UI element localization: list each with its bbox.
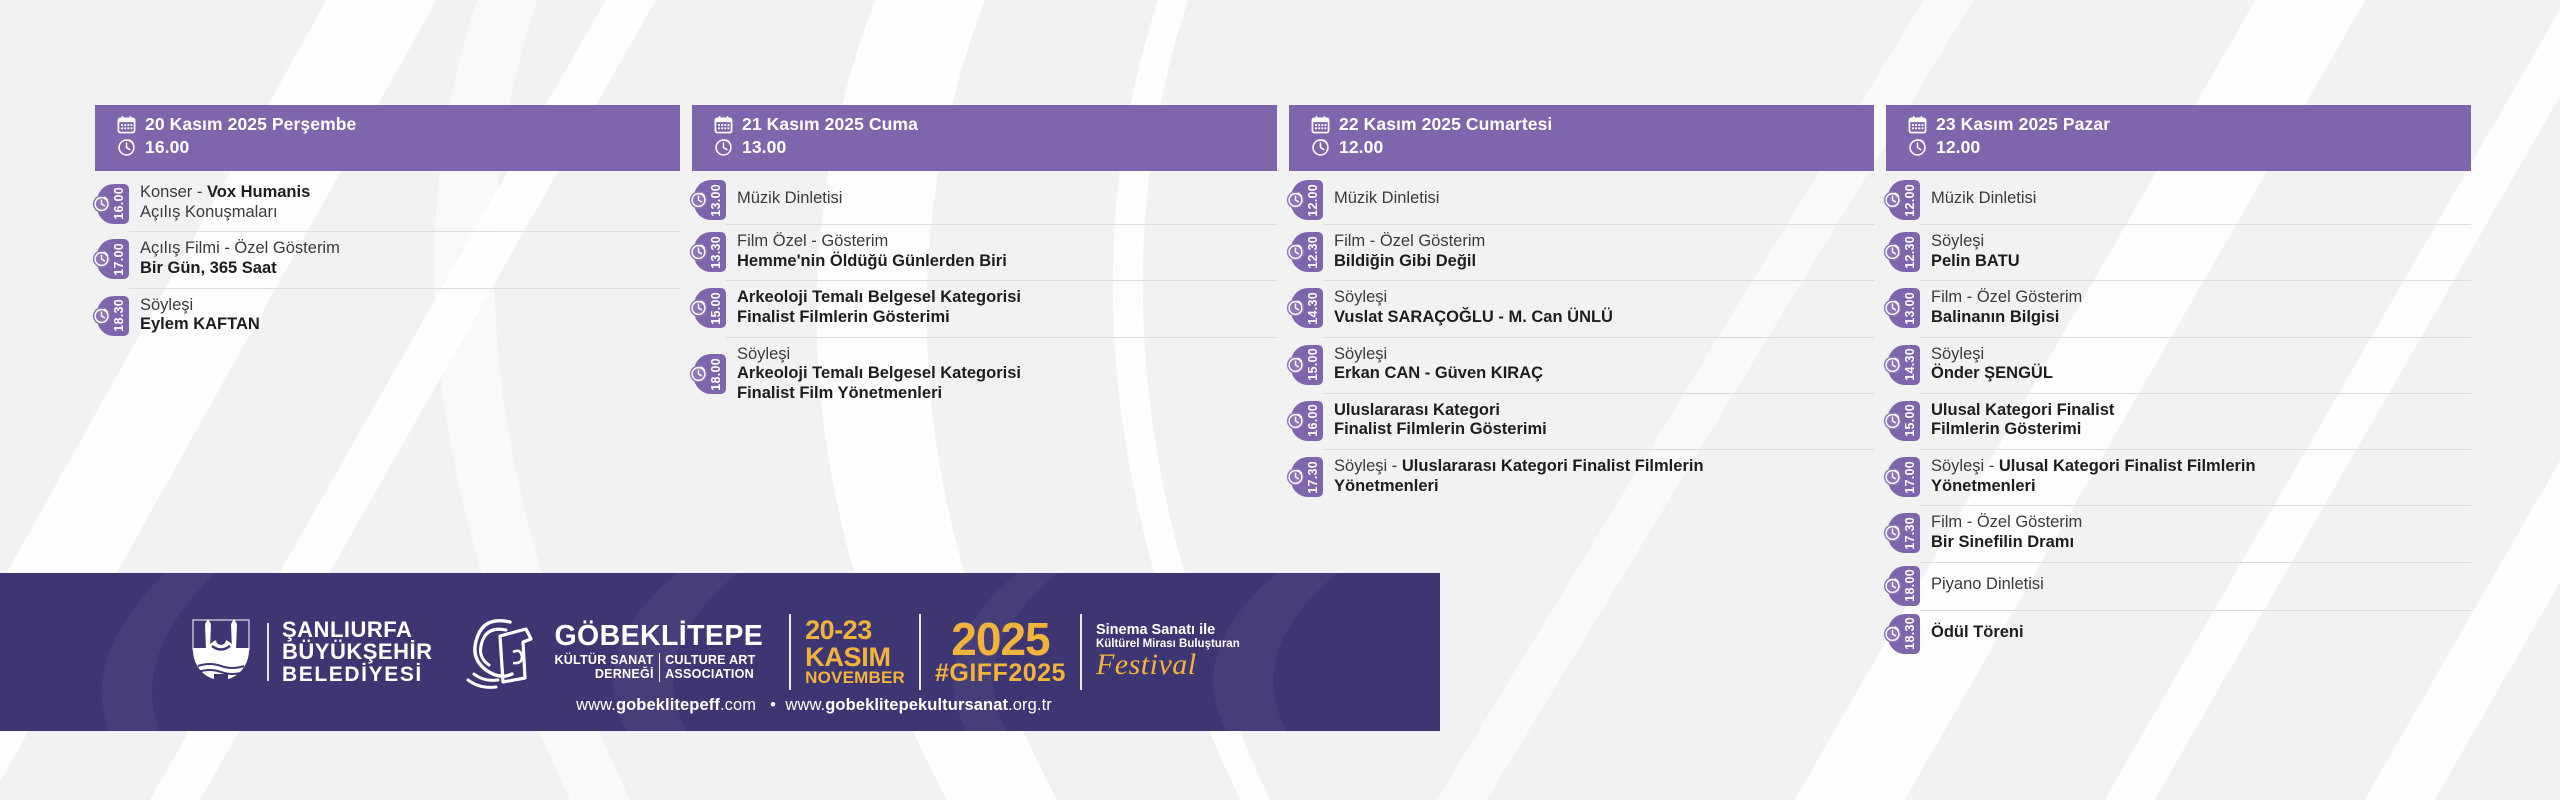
day-date: 22 Kasım 2025 Cumartesi [1339,115,1552,135]
event-row[interactable]: 14.30 SöyleşiVuslat SARAÇOĞLU - M. Can Ü… [1289,280,1874,336]
event-line: Açılış Konuşmaları [140,203,674,223]
event-body: Film - Özel GösterimBir Sinefilin Dramı [1920,505,2471,561]
day-header: 20 Kasım 2025 Perşembe 16.00 [95,105,680,171]
logo-divider [267,623,269,681]
event-line: Finalist Film Yönetmenleri [737,384,1271,404]
event-time: 18.00 [710,355,723,394]
event-line: Pelin BATU [1931,252,2465,272]
event-time-badge: 12.00 [1886,176,1920,224]
event-time: 15.00 [710,289,723,328]
event-line-title: Yönetmenleri [1334,477,1439,495]
event-line: Eylem KAFTAN [140,315,674,335]
event-line: Balinanın Bilgisi [1931,308,2465,328]
event-line: Finalist Filmlerin Gösterimi [737,308,1271,328]
url-2-tld: .org.tr [1008,696,1052,714]
banner-divider-3 [1080,614,1082,690]
event-body: Film Özel - GösterimHemme'nin Öldüğü Gün… [726,224,1277,280]
clock-icon [1286,468,1305,487]
event-line-title: Uluslararası Kategori Finalist Filmlerin [1402,457,1704,475]
gobeklitepe-association-logo: GÖBEKLİTEPE KÜLTÜR SANAT DERNEĞİ CULTURE… [466,614,763,690]
event-row[interactable]: 18.00 SöyleşiArkeoloji Temalı Belgesel K… [692,337,1277,413]
event-line: Film - Özel Gösterim [1334,232,1868,252]
event-time-badge: 15.00 [1886,393,1920,449]
event-line-lead: Söyleşi [1931,232,1984,250]
event-line-title: Uluslararası Kategori [1334,401,1500,419]
event-line: Ödül Töreni [1931,623,2465,643]
event-line-lead: Film - Özel Gösterim [1334,232,1485,250]
event-time: 18.00 [1904,566,1917,605]
event-line-lead: Film - Özel Gösterim [1931,513,2082,531]
clock-icon [1883,524,1902,543]
event-line-title: Ulusal Kategori Finalist Filmlerin [1999,457,2256,475]
event-row[interactable]: 12.00 Müzik Dinletisi [1289,176,1874,224]
event-line-title: Eylem KAFTAN [140,315,260,333]
event-time-badge: 17.30 [1289,449,1323,505]
event-line: Ulusal Kategori Finalist [1931,401,2465,421]
sanliurfa-crest-icon [188,618,254,686]
event-body: Piyano Dinletisi [1920,562,2471,610]
event-row[interactable]: 15.00 Ulusal Kategori FinalistFilmlerin … [1886,393,2471,449]
event-line: Müzik Dinletisi [1334,189,1868,209]
event-line: Yönetmenleri [1931,477,2465,497]
gobeklitepe-pillar-icon [466,614,544,690]
event-time: 12.00 [1904,181,1917,220]
event-line-title: Ödül Töreni [1931,623,2024,641]
event-time: 14.30 [1904,345,1917,384]
event-time-badge: 18.00 [692,337,726,413]
event-line: Söyleşi [737,345,1271,365]
banner-divider-2 [919,614,921,690]
event-time: 13.00 [710,181,723,220]
day-start-time: 16.00 [145,138,189,158]
clock-icon [1883,468,1902,487]
event-line-title: Bir Gün, 365 Saat [140,259,277,277]
clock-icon [689,243,708,262]
event-body: SöyleşiPelin BATU [1920,224,2471,280]
clock-icon [1286,243,1305,262]
clock-icon [1883,299,1902,318]
event-body: Arkeoloji Temalı Belgesel KategorisiFina… [726,280,1277,336]
event-line-title: Finalist Film Yönetmenleri [737,384,942,402]
event-line: Müzik Dinletisi [1931,189,2465,209]
event-line: Müzik Dinletisi [737,189,1271,209]
event-line: Söyleşi [140,296,674,316]
event-line-title: Balinanın Bilgisi [1931,308,2059,326]
event-line: Hemme'nin Öldüğü Günlerden Biri [737,252,1271,272]
url-2-domain: gobeklitepekultursanat [825,696,1008,714]
event-time-badge: 16.00 [1289,393,1323,449]
event-line-title: Erkan CAN - Güven KIRAÇ [1334,364,1543,382]
festival-year: 2025 [935,618,1066,662]
event-line: Erkan CAN - Güven KIRAÇ [1334,364,1868,384]
event-row[interactable]: 17.30 Söyleşi - Uluslararası Kategori Fi… [1289,449,1874,505]
event-line: Bir Gün, 365 Saat [140,259,674,279]
event-time: 17.00 [1904,458,1917,497]
clock-icon [689,299,708,318]
event-time: 13.30 [710,233,723,272]
event-time-badge: 18.00 [1886,562,1920,610]
event-body: Müzik Dinletisi [1920,176,2471,224]
event-body: SöyleşiArkeoloji Temalı Belgesel Kategor… [726,337,1277,413]
event-line: Söyleşi [1334,345,1868,365]
event-body: Söyleşi - Ulusal Kategori Finalist Filml… [1920,449,2471,505]
event-time-badge: 18.30 [95,288,129,344]
event-body: Söyleşi - Uluslararası Kategori Finalist… [1323,449,1874,505]
event-line: Söyleşi [1931,345,2465,365]
event-time-badge: 17.30 [1886,505,1920,561]
event-body: SöyleşiVuslat SARAÇOĞLU - M. Can ÜNLÜ [1323,280,1874,336]
clock-icon [1311,138,1330,157]
event-line-title: Vox Humanis [207,183,310,201]
event-time: 12.30 [1307,233,1320,272]
event-line-lead: Söyleşi [737,345,790,363]
event-time-badge: 16.00 [95,176,129,231]
event-line: Konser - Vox Humanis [140,183,674,203]
clock-icon [1286,411,1305,430]
calendar-icon [1908,115,1927,134]
event-body: SöyleşiEylem KAFTAN [129,288,680,344]
event-list: 16.00 Konser - Vox HumanisAçılış Konuşma… [95,176,680,344]
event-body: Film - Özel GösterimBalinanın Bilgisi [1920,280,2471,336]
event-line: Söyleşi - Ulusal Kategori Finalist Filml… [1931,457,2465,477]
municipality-line-1: ŞANLIURFA [282,619,432,641]
association-sub-divider [659,653,661,682]
event-row[interactable]: 12.30 SöyleşiPelin BATU [1886,224,2471,280]
event-line: Söyleşi - Uluslararası Kategori Finalist… [1334,457,1868,477]
festival-tagline-block: Sinema Sanatı ile Kültürel Mirası Buluşt… [1096,623,1240,681]
event-row[interactable]: 18.30 SöyleşiEylem KAFTAN [95,288,680,344]
clock-icon [1883,411,1902,430]
event-line: Uluslararası Kategori [1334,401,1868,421]
event-line-lead: Söyleşi - [1334,457,1402,475]
event-time-badge: 17.00 [95,231,129,287]
event-line: Piyano Dinletisi [1931,575,2465,595]
event-line: Filmlerin Gösterimi [1931,420,2465,440]
event-time: 15.00 [1307,345,1320,384]
clock-icon [1883,191,1902,210]
event-row[interactable]: 17.00 Söyleşi - Ulusal Kategori Finalist… [1886,449,2471,505]
event-time-badge: 13.00 [692,176,726,224]
festival-days: 20-23 [805,617,905,643]
event-body: Ulusal Kategori FinalistFilmlerin Göster… [1920,393,2471,449]
clock-icon [92,194,111,213]
event-time: 17.00 [113,240,126,279]
event-line: Bir Sinefilin Dramı [1931,533,2465,553]
festival-year-block: 2025 #GIFF2025 [935,618,1066,685]
day-start-time: 12.00 [1936,138,1980,158]
event-line-title: Ulusal Kategori Finalist [1931,401,2114,419]
clock-icon [1286,299,1305,318]
event-time: 13.00 [1904,289,1917,328]
sanliurfa-municipality-logo: ŞANLIURFA BÜYÜKŞEHİR BELEDİYESİ [188,618,432,686]
event-line: Yönetmenleri [1334,477,1868,497]
event-list: 13.00 Müzik Dinletisi 13.30 Film Özel - … [692,176,1277,412]
event-row[interactable]: 16.00 Uluslararası KategoriFinalist Film… [1289,393,1874,449]
event-time: 14.30 [1307,289,1320,328]
event-line-lead: Söyleşi [1334,345,1387,363]
event-time: 16.00 [1307,401,1320,440]
event-row[interactable]: 12.00 Müzik Dinletisi [1886,176,2471,224]
url-1-domain: gobeklitepeff [616,696,720,714]
event-body: Müzik Dinletisi [1323,176,1874,224]
event-time: 12.30 [1904,233,1917,272]
event-row[interactable]: 16.00 Konser - Vox HumanisAçılış Konuşma… [95,176,680,231]
event-body: Konser - Vox HumanisAçılış Konuşmaları [129,176,680,231]
association-sub-en-1: CULTURE ART [665,653,755,667]
event-time: 17.30 [1307,458,1320,497]
clock-icon [1286,355,1305,374]
event-list: 12.00 Müzik Dinletisi 12.30 SöyleşiPelin… [1886,176,2471,658]
day-header: 23 Kasım 2025 Pazar 12.00 [1886,105,2471,171]
event-line-title: Önder ŞENGÜL [1931,364,2053,382]
banner-divider-1 [789,614,791,690]
association-sub-tr-1: KÜLTÜR SANAT [554,653,653,667]
event-list: 12.00 Müzik Dinletisi 12.30 Film - Özel … [1289,176,1874,505]
event-line-lead: Açılış Konuşmaları [140,203,278,221]
url-1-tld: .com [720,696,756,714]
event-row[interactable]: 14.30 SöyleşiÖnder ŞENGÜL [1886,337,2471,393]
event-line-lead: Piyano Dinletisi [1931,575,2044,593]
clock-icon [689,191,708,210]
association-name: GÖBEKLİTEPE [554,622,763,651]
url-1-www: www. [576,696,616,714]
association-sub-en-2: ASSOCIATION [665,667,755,681]
event-line-lead: Söyleşi [140,296,193,314]
clock-icon [689,365,708,384]
event-line-title: Yönetmenleri [1931,477,2036,495]
event-line-lead: Müzik Dinletisi [1931,189,2036,207]
event-line: Arkeoloji Temalı Belgesel Kategorisi [737,288,1271,308]
event-line-title: Arkeoloji Temalı Belgesel Kategorisi [737,288,1021,306]
url-2-www: www. [785,696,825,714]
clock-icon [1883,624,1902,643]
event-line: Açılış Filmi - Özel Gösterim [140,239,674,259]
clock-icon [1883,355,1902,374]
day-column: 23 Kasım 2025 Pazar 12.00 12.00 Müzik Di… [1886,105,2471,658]
day-column: 20 Kasım 2025 Perşembe 16.00 16.00 Konse… [95,105,680,344]
event-body: Açılış Filmi - Özel GösterimBir Gün, 365… [129,231,680,287]
url-bullet: • [770,696,776,714]
event-time: 12.00 [1307,181,1320,220]
event-line: Film - Özel Gösterim [1931,513,2465,533]
event-line-lead: Açılış Filmi - Özel Gösterim [140,239,340,257]
event-body: Film - Özel GösterimBildiğin Gibi Değil [1323,224,1874,280]
clock-icon [92,306,111,325]
event-line-title: Pelin BATU [1931,252,2020,270]
festival-tagline-1: Sinema Sanatı ile [1096,623,1240,638]
event-row[interactable]: 13.00 Film - Özel GösterimBalinanın Bilg… [1886,280,2471,336]
day-column: 22 Kasım 2025 Cumartesi 12.00 12.00 Müzi… [1289,105,1874,505]
event-time-badge: 15.00 [1289,337,1323,393]
event-time-badge: 17.00 [1886,449,1920,505]
calendar-icon [1311,115,1330,134]
event-row[interactable]: 13.00 Müzik Dinletisi [692,176,1277,224]
event-line-lead: Müzik Dinletisi [737,189,842,207]
event-time-badge: 12.30 [1886,224,1920,280]
event-time: 17.30 [1904,514,1917,553]
event-time-badge: 15.00 [692,280,726,336]
event-line-lead: Müzik Dinletisi [1334,189,1439,207]
day-start-time: 12.00 [1339,138,1383,158]
day-column: 21 Kasım 2025 Cuma 13.00 13.00 Müzik Din… [692,105,1277,412]
day-date: 20 Kasım 2025 Perşembe [145,115,356,135]
event-body: SöyleşiÖnder ŞENGÜL [1920,337,2471,393]
day-date: 21 Kasım 2025 Cuma [742,115,918,135]
clock-icon [117,138,136,157]
event-line-lead: Söyleşi - [1931,457,1999,475]
event-time-badge: 14.30 [1289,280,1323,336]
municipality-line-3: BELEDİYESİ [282,664,432,685]
event-body: Uluslararası KategoriFinalist Filmlerin … [1323,393,1874,449]
event-line-lead: Söyleşi [1334,288,1387,306]
event-time: 18.30 [113,296,126,335]
event-line: Önder ŞENGÜL [1931,364,2465,384]
festival-month-en: NOVEMBER [805,670,905,687]
event-body: Ödül Töreni [1920,610,2471,658]
event-line-title: Vuslat SARAÇOĞLU - M. Can ÜNLÜ [1334,308,1613,326]
banner-urls: www.gobeklitepeff.com • www.gobeklitepek… [0,696,1440,715]
event-time-badge: 12.00 [1289,176,1323,224]
festival-month-tr: KASIM [805,644,905,670]
event-time-badge: 18.30 [1886,610,1920,658]
festival-hashtag: #GIFF2025 [935,662,1066,686]
calendar-icon [117,115,136,134]
day-start-time: 13.00 [742,138,786,158]
event-time-badge: 13.30 [692,224,726,280]
calendar-icon [714,115,733,134]
event-line: Finalist Filmlerin Gösterimi [1334,420,1868,440]
event-row[interactable]: 13.30 Film Özel - GösterimHemme'nin Öldü… [692,224,1277,280]
association-sub-tr-2: DERNEĞİ [554,667,653,681]
event-row[interactable]: 17.30 Film - Özel GösterimBir Sinefilin … [1886,505,2471,561]
event-body: Müzik Dinletisi [726,176,1277,224]
event-row[interactable]: 18.00 Piyano Dinletisi [1886,562,2471,610]
event-line-title: Filmlerin Gösterimi [1931,420,2081,438]
event-line: Söyleşi [1334,288,1868,308]
event-line-title: Finalist Filmlerin Gösterimi [1334,420,1547,438]
event-time: 15.00 [1904,401,1917,440]
event-line-title: Finalist Filmlerin Gösterimi [737,308,950,326]
event-row[interactable]: 15.00 SöyleşiErkan CAN - Güven KIRAÇ [1289,337,1874,393]
event-line: Film - Özel Gösterim [1931,288,2465,308]
municipality-line-2: BÜYÜKŞEHİR [282,641,432,663]
event-time: 16.00 [113,184,126,223]
festival-dates: 20-23 KASIM NOVEMBER [805,617,905,687]
day-header: 22 Kasım 2025 Cumartesi 12.00 [1289,105,1874,171]
event-time-badge: 13.00 [1886,280,1920,336]
event-time-badge: 12.30 [1289,224,1323,280]
event-row[interactable]: 15.00 Arkeoloji Temalı Belgesel Kategori… [692,280,1277,336]
clock-icon [714,138,733,157]
event-time-badge: 14.30 [1886,337,1920,393]
event-line-title: Bir Sinefilin Dramı [1931,533,2074,551]
sponsor-banner: ŞANLIURFA BÜYÜKŞEHİR BELEDİYESİ GÖBEKLİT… [0,573,1440,731]
event-row[interactable]: 12.30 Film - Özel GösterimBildiğin Gibi … [1289,224,1874,280]
event-line: Vuslat SARAÇOĞLU - M. Can ÜNLÜ [1334,308,1868,328]
day-date: 23 Kasım 2025 Pazar [1936,115,2110,135]
event-line: Film Özel - Gösterim [737,232,1271,252]
day-header: 21 Kasım 2025 Cuma 13.00 [692,105,1277,171]
event-line-lead: Film Özel - Gösterim [737,232,888,250]
event-line: Arkeoloji Temalı Belgesel Kategorisi [737,364,1271,384]
event-row[interactable]: 17.00 Açılış Filmi - Özel GösterimBir Gü… [95,231,680,287]
event-line-lead: Söyleşi [1931,345,1984,363]
event-line-title: Bildiğin Gibi Değil [1334,252,1476,270]
event-line-lead: Film - Özel Gösterim [1931,288,2082,306]
event-row[interactable]: 18.30 Ödül Töreni [1886,610,2471,658]
event-line: Bildiğin Gibi Değil [1334,252,1868,272]
event-line-title: Hemme'nin Öldüğü Günlerden Biri [737,252,1007,270]
event-line-title: Arkeoloji Temalı Belgesel Kategorisi [737,364,1021,382]
event-body: SöyleşiErkan CAN - Güven KIRAÇ [1323,337,1874,393]
clock-icon [1883,576,1902,595]
clock-icon [1286,191,1305,210]
clock-icon [1883,243,1902,262]
event-time: 18.30 [1904,614,1917,653]
festival-word: Festival [1096,649,1240,681]
clock-icon [1908,138,1927,157]
event-line: Söyleşi [1931,232,2465,252]
clock-icon [92,250,111,269]
event-line-lead: Konser - [140,183,207,201]
